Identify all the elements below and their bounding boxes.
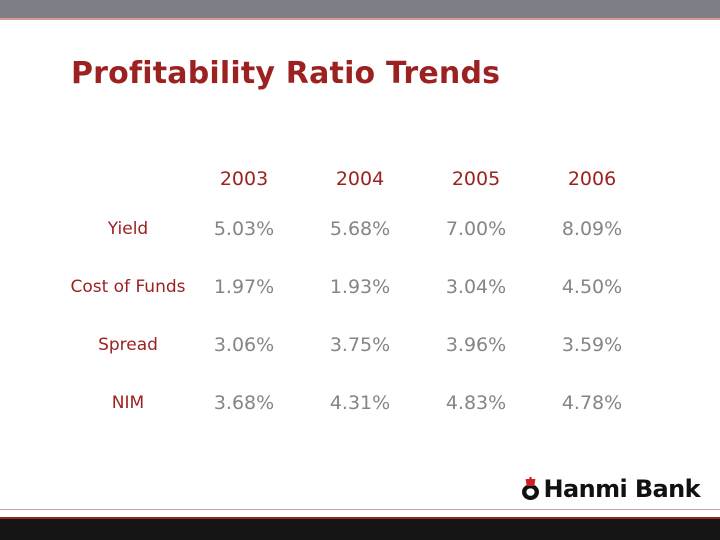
row-label-cost-of-funds: Cost of Funds (70, 258, 186, 316)
cell-cost-of-funds-2006: 4.50% (534, 258, 650, 316)
cell-nim-2004: 4.31% (302, 374, 418, 432)
cell-cost-of-funds-2003: 1.97% (186, 258, 302, 316)
table-row: NIM 3.68% 4.31% 4.83% 4.78% (70, 374, 650, 432)
footer-band (0, 519, 720, 540)
bottom-accent-rule (0, 509, 720, 510)
cell-nim-2003: 3.68% (186, 374, 302, 432)
column-header-2004: 2004 (302, 158, 418, 200)
row-label-spread: Spread (70, 316, 186, 374)
slide-canvas: Profitability Ratio Trends 2003 2004 200… (0, 0, 720, 540)
table-row: Cost of Funds 1.97% 1.93% 3.04% 4.50% (70, 258, 650, 316)
cell-yield-2006: 8.09% (534, 200, 650, 258)
column-header-2006: 2006 (534, 158, 650, 200)
cell-spread-2004: 3.75% (302, 316, 418, 374)
cell-spread-2006: 3.59% (534, 316, 650, 374)
column-header-2003: 2003 (186, 158, 302, 200)
top-accent-rule (0, 18, 720, 20)
cell-cost-of-funds-2004: 1.93% (302, 258, 418, 316)
cell-yield-2003: 5.03% (186, 200, 302, 258)
row-label-nim: NIM (70, 374, 186, 432)
row-label-yield: Yield (70, 200, 186, 258)
column-header-2005: 2005 (418, 158, 534, 200)
top-gray-bar (0, 0, 720, 18)
cell-yield-2004: 5.68% (302, 200, 418, 258)
logo-text: Hanmi Bank (544, 477, 701, 501)
profitability-ratio-table: 2003 2004 2005 2006 Yield 5.03% 5.68% 7.… (70, 158, 650, 432)
cell-yield-2005: 7.00% (418, 200, 534, 258)
hanmi-bank-logo: Hanmi Bank (520, 477, 701, 501)
cell-spread-2005: 3.96% (418, 316, 534, 374)
table-row: Spread 3.06% 3.75% 3.96% 3.59% (70, 316, 650, 374)
cell-cost-of-funds-2005: 3.04% (418, 258, 534, 316)
cell-spread-2003: 3.06% (186, 316, 302, 374)
hanmi-ring-icon (520, 477, 541, 501)
cell-nim-2006: 4.78% (534, 374, 650, 432)
table-row: Yield 5.03% 5.68% 7.00% 8.09% (70, 200, 650, 258)
table-header-row: 2003 2004 2005 2006 (70, 158, 650, 200)
table-corner-cell (70, 158, 186, 200)
cell-nim-2005: 4.83% (418, 374, 534, 432)
page-title: Profitability Ratio Trends (71, 56, 500, 91)
